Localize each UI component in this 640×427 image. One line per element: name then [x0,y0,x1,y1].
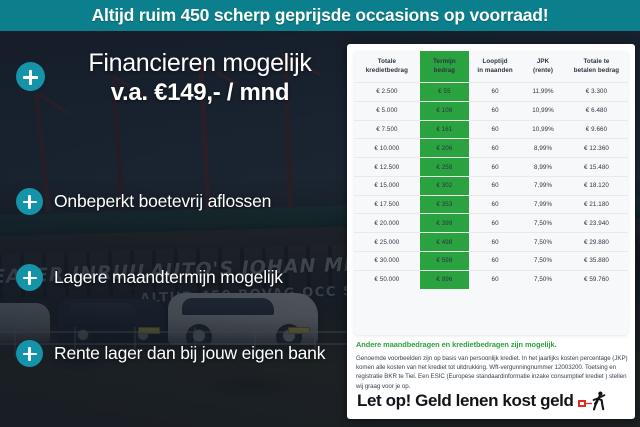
table-cell: € 25.000 [354,233,420,252]
table-cell: € 15.480 [565,158,628,177]
header-line: Totale [378,58,396,65]
table-cell: € 3.300 [565,83,628,102]
header-line: Termijn [433,58,456,65]
table-cell: 60 [469,176,521,195]
plus-icon [16,62,45,91]
table-cell: 60 [469,252,521,271]
table-row: € 20.000€ 399607,50%€ 23.940 [354,214,628,233]
feature-bullet-label: Rente lager dan bij jouw eigen bank [54,343,325,364]
table-cell: € 10.000 [354,139,420,158]
table-row: € 12.500€ 258608,99%€ 15.480 [354,158,628,177]
plus-icon [16,264,43,291]
table-cell: € 15.000 [354,176,420,195]
table-cell: € 353 [420,195,469,214]
plus-icon [16,340,43,367]
table-cell: € 50.000 [354,270,420,288]
table-cell: € 21.180 [565,195,628,214]
table-row: € 50.000€ 996607,50%€ 59.760 [354,270,628,288]
header-line: in maanden [477,67,512,74]
table-cell: € 59.760 [565,270,628,288]
rates-note-title: Andere maandbedragen en kredietbedragen … [356,340,628,349]
table-header-row: Totale kredietbedrag Termijn bedrag Loop… [354,51,628,83]
table-row: € 7.500€ 1616010,99%€ 9.660 [354,120,628,139]
table-cell: 60 [469,139,521,158]
rates-table: Totale kredietbedrag Termijn bedrag Loop… [354,51,628,289]
table-cell: € 7.500 [354,120,420,139]
running-man-icon [578,391,608,411]
table-cell: € 29.880 [565,233,628,252]
credit-warning-text: Let op! Geld lenen kost geld [357,391,573,411]
table-cell: € 35.880 [565,252,628,271]
column-header-looptijd: Looptijd in maanden [469,51,521,83]
table-cell: 7,99% [521,176,565,195]
header-line: Looptijd [482,58,507,65]
header-line: kredietbedrag [366,67,408,74]
feature-bullet-label: Lagere maandtermijn mogelijk [54,267,283,288]
table-cell: 8,99% [521,158,565,177]
rates-table-body: € 2.500€ 556011,99%€ 3.300€ 5.000€ 10860… [354,83,628,289]
table-cell: € 598 [420,252,469,271]
table-cell: 60 [469,83,521,102]
rates-note: Andere maandbedragen en kredietbedragen … [356,340,628,391]
left-content: Financieren mogelijk v.a. €149,- / mnd O… [0,31,352,427]
table-cell: € 55 [420,83,469,102]
table-cell: € 30.000 [354,252,420,271]
table-cell: € 108 [420,101,469,120]
table-cell: € 6.480 [565,101,628,120]
headline: Financieren mogelijk v.a. €149,- / mnd [55,48,345,108]
table-cell: € 996 [420,270,469,288]
table-row: € 30.000€ 598607,50%€ 35.880 [354,252,628,271]
table-cell: 7,50% [521,252,565,271]
table-cell: 60 [469,101,521,120]
table-cell: 7,50% [521,270,565,288]
headline-block: Financieren mogelijk v.a. €149,- / mnd [16,48,352,108]
headline-line-1: Financieren mogelijk [55,48,345,78]
column-header-totale-kredietbedrag: Totale kredietbedrag [354,51,420,83]
column-header-jpk: JPK (rente) [521,51,565,83]
table-row: € 2.500€ 556011,99%€ 3.300 [354,83,628,102]
table-cell: € 302 [420,176,469,195]
table-cell: € 498 [420,233,469,252]
top-banner: Altijd ruim 450 scherp geprijsde occasio… [0,0,640,31]
header-line: JPK [537,58,549,65]
rates-note-body: Genoemde voorbeelden zijn op basis van p… [356,354,628,391]
promo-banner-image: EALER INRUILAUTO'S JOHAN MEURE ALTIJD 45… [0,0,640,427]
table-cell: € 2.500 [354,83,420,102]
table-cell: € 206 [420,139,469,158]
table-row: € 17.500€ 353607,99%€ 21.180 [354,195,628,214]
rates-card: Totale kredietbedrag Termijn bedrag Loop… [347,44,635,419]
table-cell: 7,99% [521,195,565,214]
table-cell: 10,99% [521,120,565,139]
table-row: € 10.000€ 206608,99%€ 12.360 [354,139,628,158]
table-cell: € 5.000 [354,101,420,120]
feature-bullet-label: Onbeperkt boetevrij aflossen [54,191,271,212]
table-cell: 11,99% [521,83,565,102]
table-cell: € 399 [420,214,469,233]
table-cell: 60 [469,158,521,177]
table-cell: 60 [469,270,521,288]
header-line: Totale te [584,58,610,65]
table-cell: 7,50% [521,233,565,252]
plus-icon [16,188,43,215]
table-cell: 60 [469,214,521,233]
headline-line-2: v.a. €149,- / mnd [55,78,345,108]
table-cell: € 20.000 [354,214,420,233]
header-line: (rente) [533,67,553,74]
column-header-totale-te-betalen: Totale te betalen bedrag [565,51,628,83]
table-row: € 15.000€ 302607,99%€ 18.120 [354,176,628,195]
table-cell: 7,50% [521,214,565,233]
column-header-termijn-bedrag: Termijn bedrag [420,51,469,83]
table-cell: 10,99% [521,101,565,120]
table-cell: € 17.500 [354,195,420,214]
table-cell: 60 [469,195,521,214]
table-cell: € 23.940 [565,214,628,233]
credit-warning: Let op! Geld lenen kost geld [357,391,627,411]
table-cell: € 258 [420,158,469,177]
table-cell: € 12.360 [565,139,628,158]
rates-table-panel: Totale kredietbedrag Termijn bedrag Loop… [354,51,628,335]
table-cell: € 161 [420,120,469,139]
table-cell: 60 [469,120,521,139]
header-line: bedrag [434,67,455,74]
table-cell: € 12.500 [354,158,420,177]
table-cell: 60 [469,233,521,252]
table-row: € 25.000€ 498607,50%€ 29.880 [354,233,628,252]
feature-bullet-lagere-maandtermijn: Lagere maandtermijn mogelijk [16,264,283,291]
table-cell: 8,99% [521,139,565,158]
header-line: betalen bedrag [574,67,619,74]
top-banner-text: Altijd ruim 450 scherp geprijsde occasio… [92,5,549,26]
feature-bullet-onbeperkt-aflossen: Onbeperkt boetevrij aflossen [16,188,271,215]
table-row: € 5.000€ 1086010,99%€ 6.480 [354,101,628,120]
table-cell: € 18.120 [565,176,628,195]
table-cell: € 9.660 [565,120,628,139]
feature-bullet-rente-lager: Rente lager dan bij jouw eigen bank [16,340,325,367]
